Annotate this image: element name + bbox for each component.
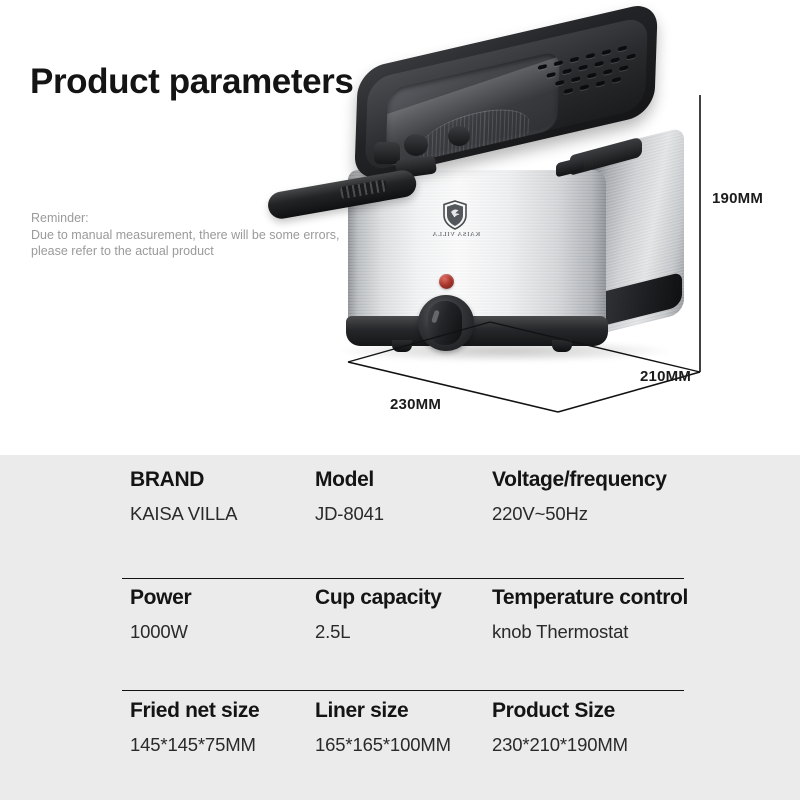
spec-key: Fried net size — [130, 698, 259, 724]
vent-slot — [627, 53, 636, 59]
vent-slot — [586, 53, 595, 59]
spec-value: 145*145*75MM — [130, 733, 259, 757]
spec-row: Power 1000W Cup capacity 2.5L Temperatur… — [0, 585, 800, 695]
spec-key: Liner size — [315, 698, 451, 724]
vent-slot — [587, 73, 596, 79]
spec-key: Model — [315, 467, 384, 493]
thermostat-knob — [428, 301, 462, 345]
fryer-handle-grip-ribs — [340, 179, 387, 199]
vent-slot — [619, 65, 628, 71]
spec-key: Power — [130, 585, 191, 611]
vent-slot — [611, 57, 620, 63]
spec-value: 2.5L — [315, 620, 442, 644]
vent-slot — [547, 72, 556, 78]
spec-cell-power: Power 1000W — [130, 585, 191, 644]
brand-logo-text: KAISA VILLA — [426, 231, 486, 238]
spec-row: BRAND KAISA VILLA Model JD-8041 Voltage/… — [0, 467, 800, 577]
spec-cell-brand: BRAND KAISA VILLA — [130, 467, 237, 526]
vent-slot — [555, 80, 564, 86]
shield-crest-icon — [442, 200, 468, 230]
spec-cell-liner-size: Liner size 165*165*100MM — [315, 698, 451, 757]
spec-key: Voltage/frequency — [492, 467, 667, 493]
power-indicator-lamp — [439, 274, 454, 289]
spec-value: KAISA VILLA — [130, 502, 237, 526]
spec-row-divider — [122, 690, 684, 691]
spec-value: JD-8041 — [315, 502, 384, 526]
vent-slot — [602, 49, 611, 55]
spec-value: 220V~50Hz — [492, 502, 667, 526]
spec-key: Cup capacity — [315, 585, 442, 611]
vent-slot — [580, 84, 589, 90]
vent-slot — [563, 68, 572, 74]
spec-row-divider — [122, 578, 684, 579]
vent-slot — [571, 76, 580, 82]
vent-slot — [538, 64, 547, 70]
spec-cell-temperature-control: Temperature control knob Thermostat — [492, 585, 688, 644]
spec-cell-voltage-frequency: Voltage/frequency 220V~50Hz — [492, 467, 667, 526]
vent-slot — [564, 88, 573, 94]
reminder-body: Due to manual measurement, there will be… — [31, 227, 341, 260]
vent-slot — [570, 57, 579, 63]
fryer-lid-hinge-knuckle — [404, 134, 428, 156]
specification-table: BRAND KAISA VILLA Model JD-8041 Voltage/… — [0, 455, 800, 800]
product-illustration: KAISA VILLA — [300, 18, 700, 398]
vent-slot — [595, 61, 604, 67]
fryer-foot-left — [392, 340, 412, 352]
dimension-height-label: 190MM — [712, 190, 763, 207]
spec-value: 1000W — [130, 620, 191, 644]
vent-slot — [596, 81, 605, 87]
spec-cell-cup-capacity: Cup capacity 2.5L — [315, 585, 442, 644]
dimension-width-label: 230MM — [390, 396, 441, 413]
spec-value: knob Thermostat — [492, 620, 688, 644]
vent-slot — [618, 45, 627, 51]
spec-row: Fried net size 145*145*75MM Liner size 1… — [0, 698, 800, 808]
spec-cell-model: Model JD-8041 — [315, 467, 384, 526]
product-hero-section: Product parameters Reminder: Due to manu… — [0, 0, 800, 455]
spec-cell-fried-net-size: Fried net size 145*145*75MM — [130, 698, 259, 757]
spec-value: 230*210*190MM — [492, 733, 628, 757]
spec-key: Temperature control — [492, 585, 688, 611]
spec-key: BRAND — [130, 467, 237, 493]
reminder-note: Reminder: Due to manual measurement, the… — [31, 210, 341, 260]
vent-slot — [579, 65, 588, 71]
fryer-lid-hinge-pin — [448, 126, 470, 146]
vent-slot — [603, 69, 612, 75]
spec-value: 165*165*100MM — [315, 733, 451, 757]
vent-slot — [554, 60, 563, 66]
spec-cell-product-size: Product Size 230*210*190MM — [492, 698, 628, 757]
dimension-depth-label: 210MM — [640, 368, 691, 385]
spec-key: Product Size — [492, 698, 628, 724]
fryer-foot-right — [552, 340, 572, 352]
vent-slot — [612, 77, 621, 83]
